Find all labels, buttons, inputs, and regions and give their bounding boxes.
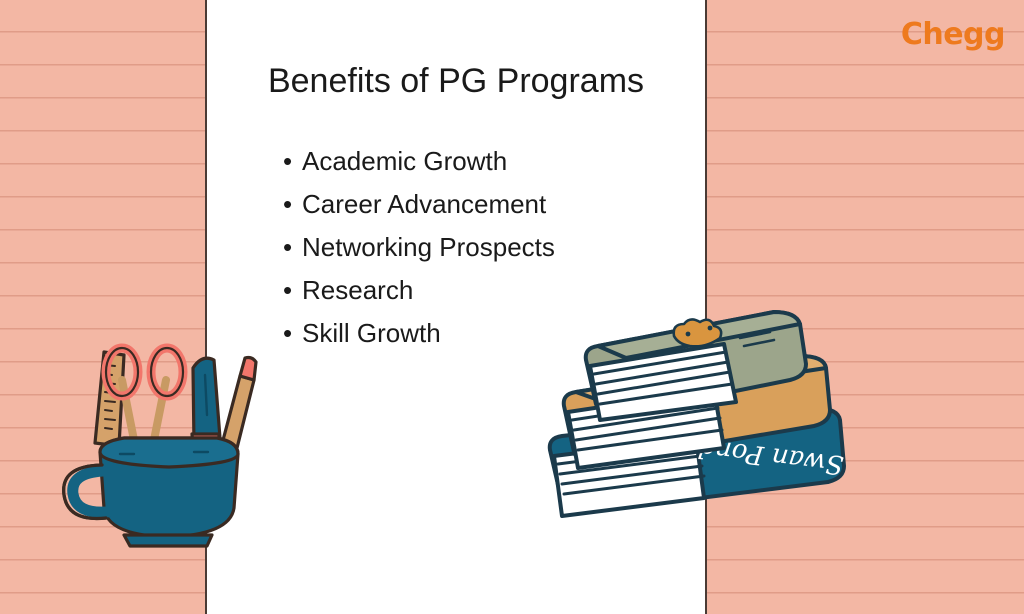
list-item: • Skill Growth [283,312,555,355]
bullet-icon: • [283,226,302,269]
bullet-icon: • [283,183,302,226]
list-item: • Research [283,269,555,312]
list-item-label: Skill Growth [302,312,441,355]
list-item-label: Academic Growth [302,140,507,183]
list-item: • Academic Growth [283,140,555,183]
list-item: • Networking Prospects [283,226,555,269]
chegg-logo: Chegg [901,17,1005,52]
list-item-label: Networking Prospects [302,226,555,269]
list-item-label: Career Advancement [302,183,546,226]
slide-canvas: Swan Pond [0,0,1024,614]
bullet-icon: • [283,312,302,355]
slide-content: Benefits of PG Programs • Academic Growt… [205,0,707,614]
page-title: Benefits of PG Programs [205,62,707,101]
bullet-icon: • [283,140,302,183]
list-item-label: Research [302,269,413,312]
list-item: • Career Advancement [283,183,555,226]
bullet-icon: • [283,269,302,312]
benefits-list: • Academic Growth • Career Advancement •… [283,140,555,355]
